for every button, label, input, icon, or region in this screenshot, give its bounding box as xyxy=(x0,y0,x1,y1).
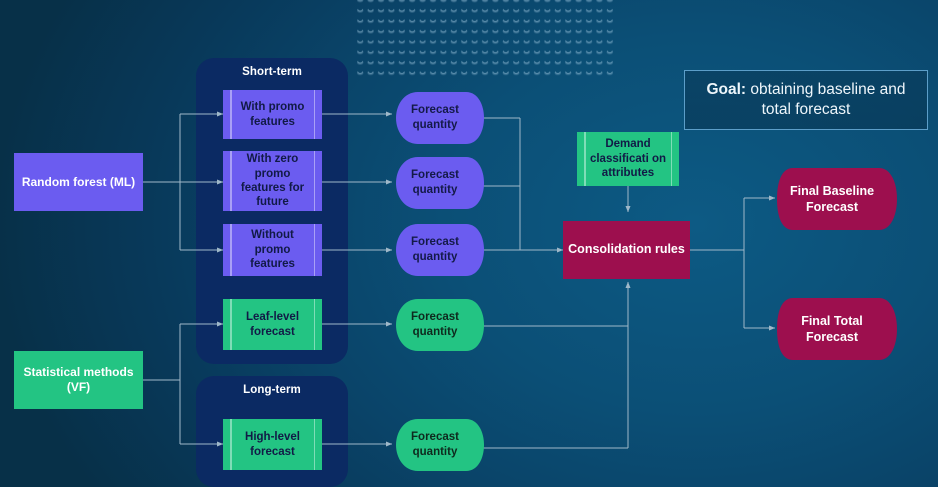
forecast-quantity-2-label: Forecast quantity xyxy=(392,168,490,197)
final-total-forecast-label: Final Total Forecast xyxy=(775,313,901,345)
final-total-forecast[interactable]: Final Total Forecast xyxy=(775,298,901,360)
group-long-term-title: Long-term xyxy=(196,384,348,396)
model-with-zero-promo-features-for-future[interactable]: With zero promo features for future xyxy=(223,151,322,211)
consolidation-rules[interactable]: Consolidation rules xyxy=(563,221,690,279)
forecast-quantity-4[interactable]: Forecast quantity xyxy=(392,299,490,351)
forecast-quantity-2[interactable]: Forecast quantity xyxy=(392,157,490,209)
final-baseline-forecast[interactable]: Final Baseline Forecast xyxy=(775,168,901,230)
forecast-quantity-4-label: Forecast quantity xyxy=(392,310,490,339)
forecast-quantity-5-label: Forecast quantity xyxy=(392,430,490,459)
model-with-promo-features[interactable]: With promo features xyxy=(223,90,322,139)
model-leaf-level-forecast-label: Leaf-level forecast xyxy=(233,310,312,339)
goal-callout: Goal: obtaining baseline and total forec… xyxy=(684,70,928,130)
demand-classification-attributes[interactable]: Demand classificati on attributes xyxy=(577,132,679,186)
halftone-dots-decoration xyxy=(355,0,615,80)
final-baseline-forecast-label: Final Baseline Forecast xyxy=(775,183,901,215)
forecast-quantity-3[interactable]: Forecast quantity xyxy=(392,224,490,276)
model-without-promo-features-label: Without promo features xyxy=(233,228,312,271)
consolidation-rules-label: Consolidation rules xyxy=(568,242,685,258)
forecast-quantity-3-label: Forecast quantity xyxy=(392,235,490,264)
diagram-canvas: Goal: obtaining baseline and total forec… xyxy=(0,0,938,487)
model-with-zero-promo-features-for-future-label: With zero promo features for future xyxy=(233,152,312,210)
model-with-promo-features-label: With promo features xyxy=(233,100,312,129)
forecast-quantity-1[interactable]: Forecast quantity xyxy=(392,92,490,144)
forecast-quantity-5[interactable]: Forecast quantity xyxy=(392,419,490,471)
model-high-level-forecast-label: High-level forecast xyxy=(233,430,312,459)
group-short-term-title: Short-term xyxy=(196,66,348,78)
source-statistical-methods[interactable]: Statistical methods (VF) xyxy=(14,351,143,409)
goal-label-rest: obtaining baseline and total forecast xyxy=(746,81,905,118)
model-high-level-forecast[interactable]: High-level forecast xyxy=(223,419,322,470)
goal-label-bold: Goal: xyxy=(706,81,746,98)
model-leaf-level-forecast[interactable]: Leaf-level forecast xyxy=(223,299,322,350)
source-statistical-methods-label: Statistical methods (VF) xyxy=(14,365,143,395)
source-random-forest-label: Random forest (ML) xyxy=(22,175,135,190)
source-random-forest[interactable]: Random forest (ML) xyxy=(14,153,143,211)
forecast-quantity-1-label: Forecast quantity xyxy=(392,103,490,132)
model-without-promo-features[interactable]: Without promo features xyxy=(223,224,322,276)
demand-classification-attributes-label: Demand classificati on attributes xyxy=(587,137,669,180)
